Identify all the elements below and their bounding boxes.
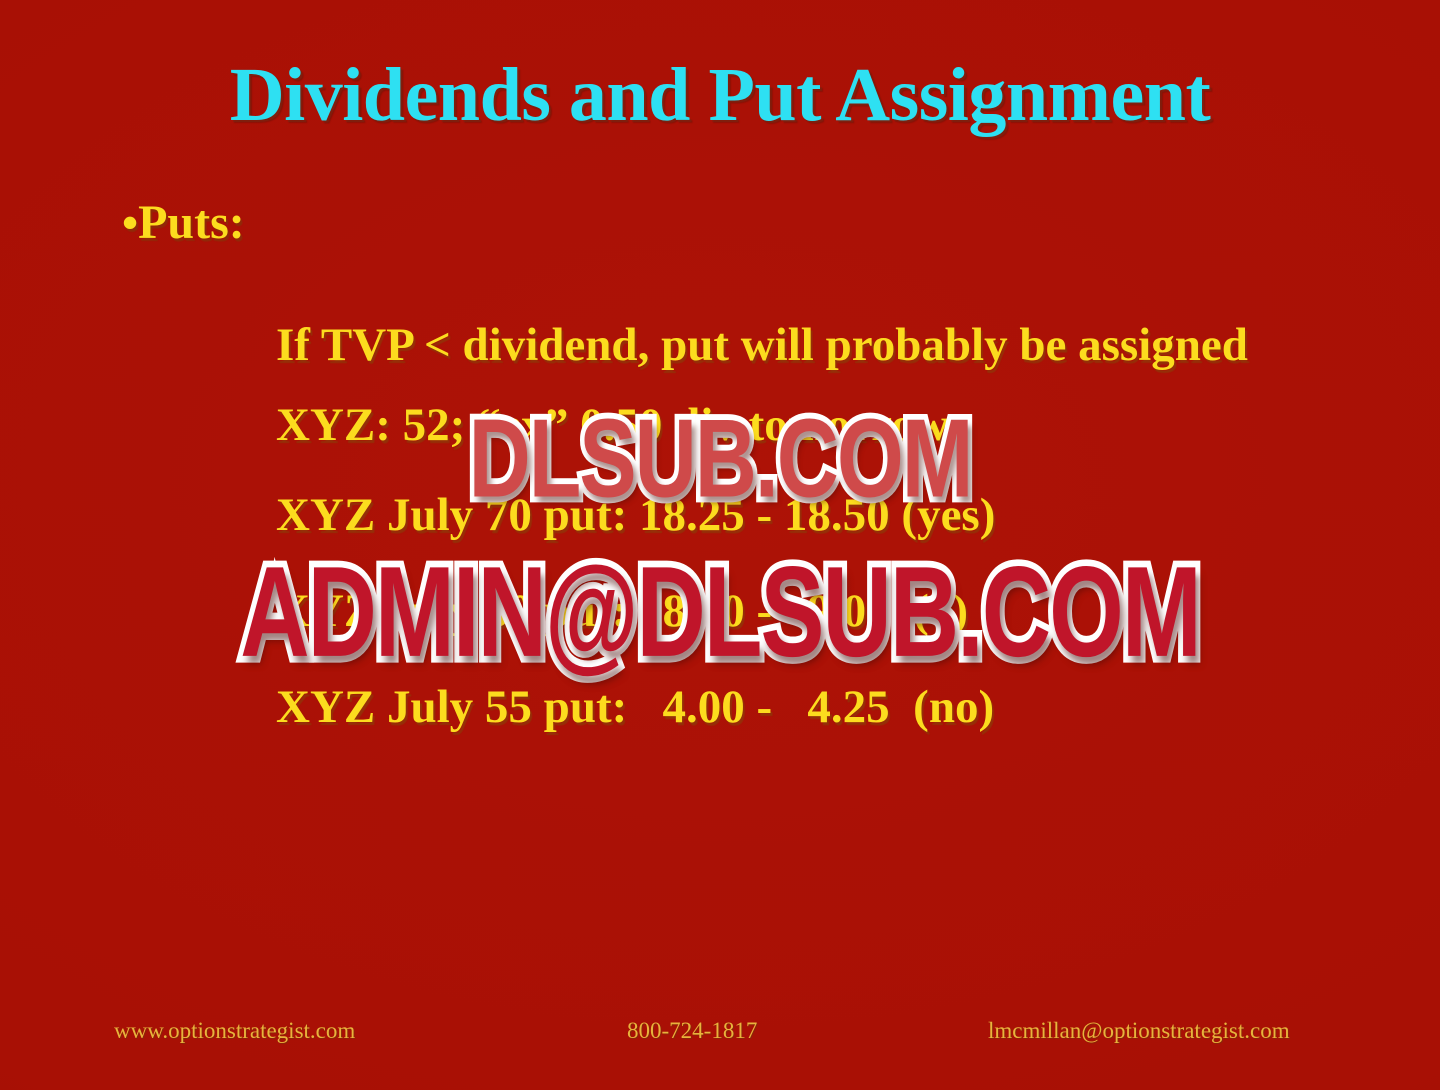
footer-email: lmcmillan@optionstrategist.com [988, 1018, 1290, 1044]
slide-canvas: Dividends and Put Assignment •Puts: If T… [0, 0, 1440, 1090]
bullet-label: Puts: [138, 196, 245, 249]
tvp-paragraph: If TVP < dividend, put will probably be … [276, 318, 1286, 374]
stock-quote-line: XYZ: 52; “ex” 0.50 div tomorrow [276, 402, 1336, 450]
footer-website: www.optionstrategist.com [114, 1018, 355, 1044]
footer-phone: 800-724-1817 [627, 1018, 757, 1044]
page-title: Dividends and Put Assignment [0, 52, 1440, 139]
bullet-marker-icon: • [122, 197, 138, 248]
body-content: If TVP < dividend, put will probably be … [276, 318, 1336, 732]
slide-footer: www.optionstrategist.com 800-724-1817 lm… [0, 1018, 1440, 1052]
tvp-paragraph-wrap: If TVP < dividend, put will probably be … [276, 318, 1286, 374]
put-quote-row-55: XYZ July 55 put: 4.00 - 4.25 (no) [276, 684, 1336, 732]
put-quote-row-60: XYZ July 60 put: 8.50 - 9.00 (?) [276, 588, 1336, 636]
put-quote-row-70: XYZ July 70 put: 18.25 - 18.50 (yes) [276, 492, 1336, 540]
bullet-puts: •Puts: [122, 195, 245, 250]
